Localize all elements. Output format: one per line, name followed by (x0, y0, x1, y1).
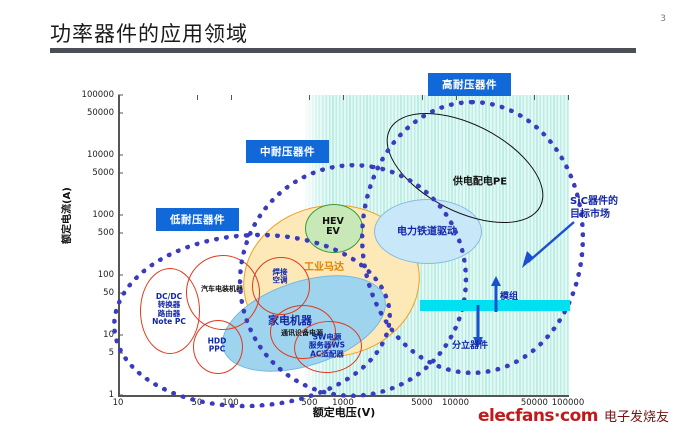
y-tick-label: 50000 (87, 108, 114, 118)
page-title: 功率器件的应用领域 (50, 18, 248, 48)
x-tick-mark (422, 95, 423, 100)
y-tick-label: 5 (109, 348, 114, 358)
tag-low-voltage-device[interactable]: 低耐压器件 (156, 208, 239, 231)
y-tick-label: 500 (98, 228, 114, 238)
label-module: 模组 (500, 289, 518, 302)
tag-medium-voltage-device[interactable]: 中耐压器件 (246, 140, 329, 163)
sic-callout-arrow-icon (518, 218, 578, 274)
x-tick-mark (197, 95, 198, 100)
x-tick-mark (309, 95, 310, 100)
x-tick-label: 10000 (442, 398, 469, 408)
x-tick-label: 5000 (411, 398, 433, 408)
tag-high-voltage-device[interactable]: 高耐压器件 (428, 73, 511, 96)
watermark-brand: elecfans·com (478, 406, 598, 426)
y-tick-label: 5000 (92, 168, 114, 178)
y-tick-label: 1000 (92, 210, 114, 220)
watermark-brand-cn: 电子发烧友 (604, 406, 669, 425)
y-axis-label: 额定电流(A) (58, 187, 73, 244)
x-axis-label: 额定电压(V) (313, 404, 376, 420)
label-discrete-device: 分立器件 (452, 338, 488, 351)
y-tick-label: 100000 (82, 90, 114, 100)
x-tick-label: 10 (113, 398, 124, 408)
watermark: elecfans·com 电子发烧友 (478, 406, 669, 426)
x-tick-mark (568, 95, 569, 100)
x-tick-mark (231, 95, 232, 100)
y-tick-label: 100 (98, 270, 114, 280)
sic-line1: SiC器件的 (570, 196, 618, 207)
slide-number: 3 (660, 14, 666, 24)
title-divider (50, 48, 636, 53)
y-tick-label: 10000 (87, 150, 114, 160)
x-tick-mark (343, 95, 344, 100)
y-tick-label: 50 (103, 288, 114, 298)
x-tick-mark (534, 95, 535, 100)
